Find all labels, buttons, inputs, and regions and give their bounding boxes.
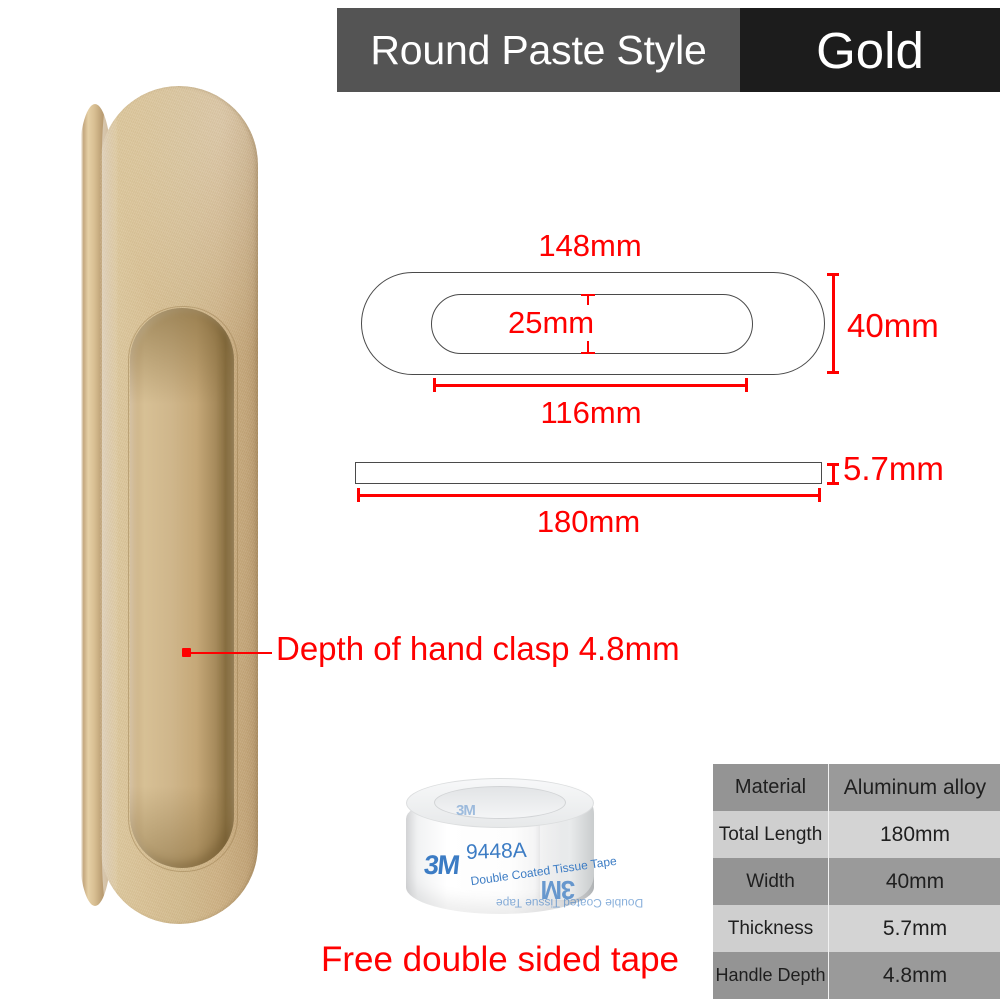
side-view-dimension-diagram: 5.7mm 180mm <box>355 462 955 552</box>
style-banner: Round Paste Style <box>337 8 740 92</box>
depth-callout-label: Depth of hand clasp 4.8mm <box>276 630 680 668</box>
spec-value: 5.7mm <box>829 905 1000 952</box>
tape-brand-logo-mirrored: 3M <box>542 874 575 905</box>
dimension-label-recess-length: 116mm <box>433 395 749 431</box>
dimension-label-total-length: 180mm <box>355 504 822 540</box>
handle-finger-recess <box>130 308 234 868</box>
tape-roll-core-hole <box>434 786 566 819</box>
dimension-line-thickness <box>832 463 835 484</box>
spec-value: Aluminum alloy <box>829 764 1000 811</box>
dimension-tick-total-length-right <box>818 488 821 502</box>
depth-callout: Depth of hand clasp 4.8mm <box>182 630 702 674</box>
front-view-dimension-diagram: 148mm 25mm 40mm 116mm <box>355 228 955 428</box>
dimension-tick-recess-width-bottom <box>581 352 595 354</box>
dimension-line-width <box>832 273 835 374</box>
spec-value: 40mm <box>829 858 1000 905</box>
spec-table-row: Total Length180mm <box>713 811 1000 858</box>
spec-label: Width <box>713 858 829 905</box>
dimension-label-width: 40mm <box>847 307 939 345</box>
tape-roll-photo: 3M 3M 9448A Double Coated Tissue Tape Do… <box>400 778 600 926</box>
callout-leader-line <box>190 652 272 654</box>
spec-table-row: Handle Depth4.8mm <box>713 952 1000 999</box>
header-banner: Round Paste Style Gold <box>337 8 1000 92</box>
specification-table: MaterialAluminum alloyTotal Length180mmW… <box>713 764 1000 999</box>
tape-caption: Free double sided tape <box>300 940 700 980</box>
spec-label: Thickness <box>713 905 829 952</box>
style-banner-label: Round Paste Style <box>370 27 706 74</box>
dimension-line-recess-length <box>433 384 747 387</box>
spec-value: 180mm <box>829 811 1000 858</box>
side-view-profile-outline <box>355 462 822 484</box>
spec-label: Handle Depth <box>713 952 829 999</box>
product-photo-gold-handle <box>78 86 258 924</box>
tape-product-code: 9448A <box>466 839 528 865</box>
color-banner-label: Gold <box>816 21 924 80</box>
spec-table-row: Thickness5.7mm <box>713 905 1000 952</box>
tape-brand-logo: 3M <box>422 850 460 881</box>
spec-table-row: Width40mm <box>713 858 1000 905</box>
dimension-line-total-length <box>357 494 820 497</box>
spec-label: Total Length <box>713 811 829 858</box>
dimension-label-thickness: 5.7mm <box>843 450 944 488</box>
spec-value: 4.8mm <box>829 952 1000 999</box>
dimension-tick-recess-length-right <box>745 378 748 392</box>
dimension-label-recess-width: 25mm <box>505 305 597 341</box>
spec-table-row: MaterialAluminum alloy <box>713 764 1000 811</box>
dimension-label-overall-length: 148mm <box>355 228 825 264</box>
dimension-tick-width-bottom <box>827 371 839 374</box>
spec-label: Material <box>713 764 829 811</box>
tape-brand-logo-small: 3M <box>456 802 475 819</box>
dimension-tick-thickness-bottom <box>827 482 839 485</box>
color-banner: Gold <box>740 8 1000 92</box>
